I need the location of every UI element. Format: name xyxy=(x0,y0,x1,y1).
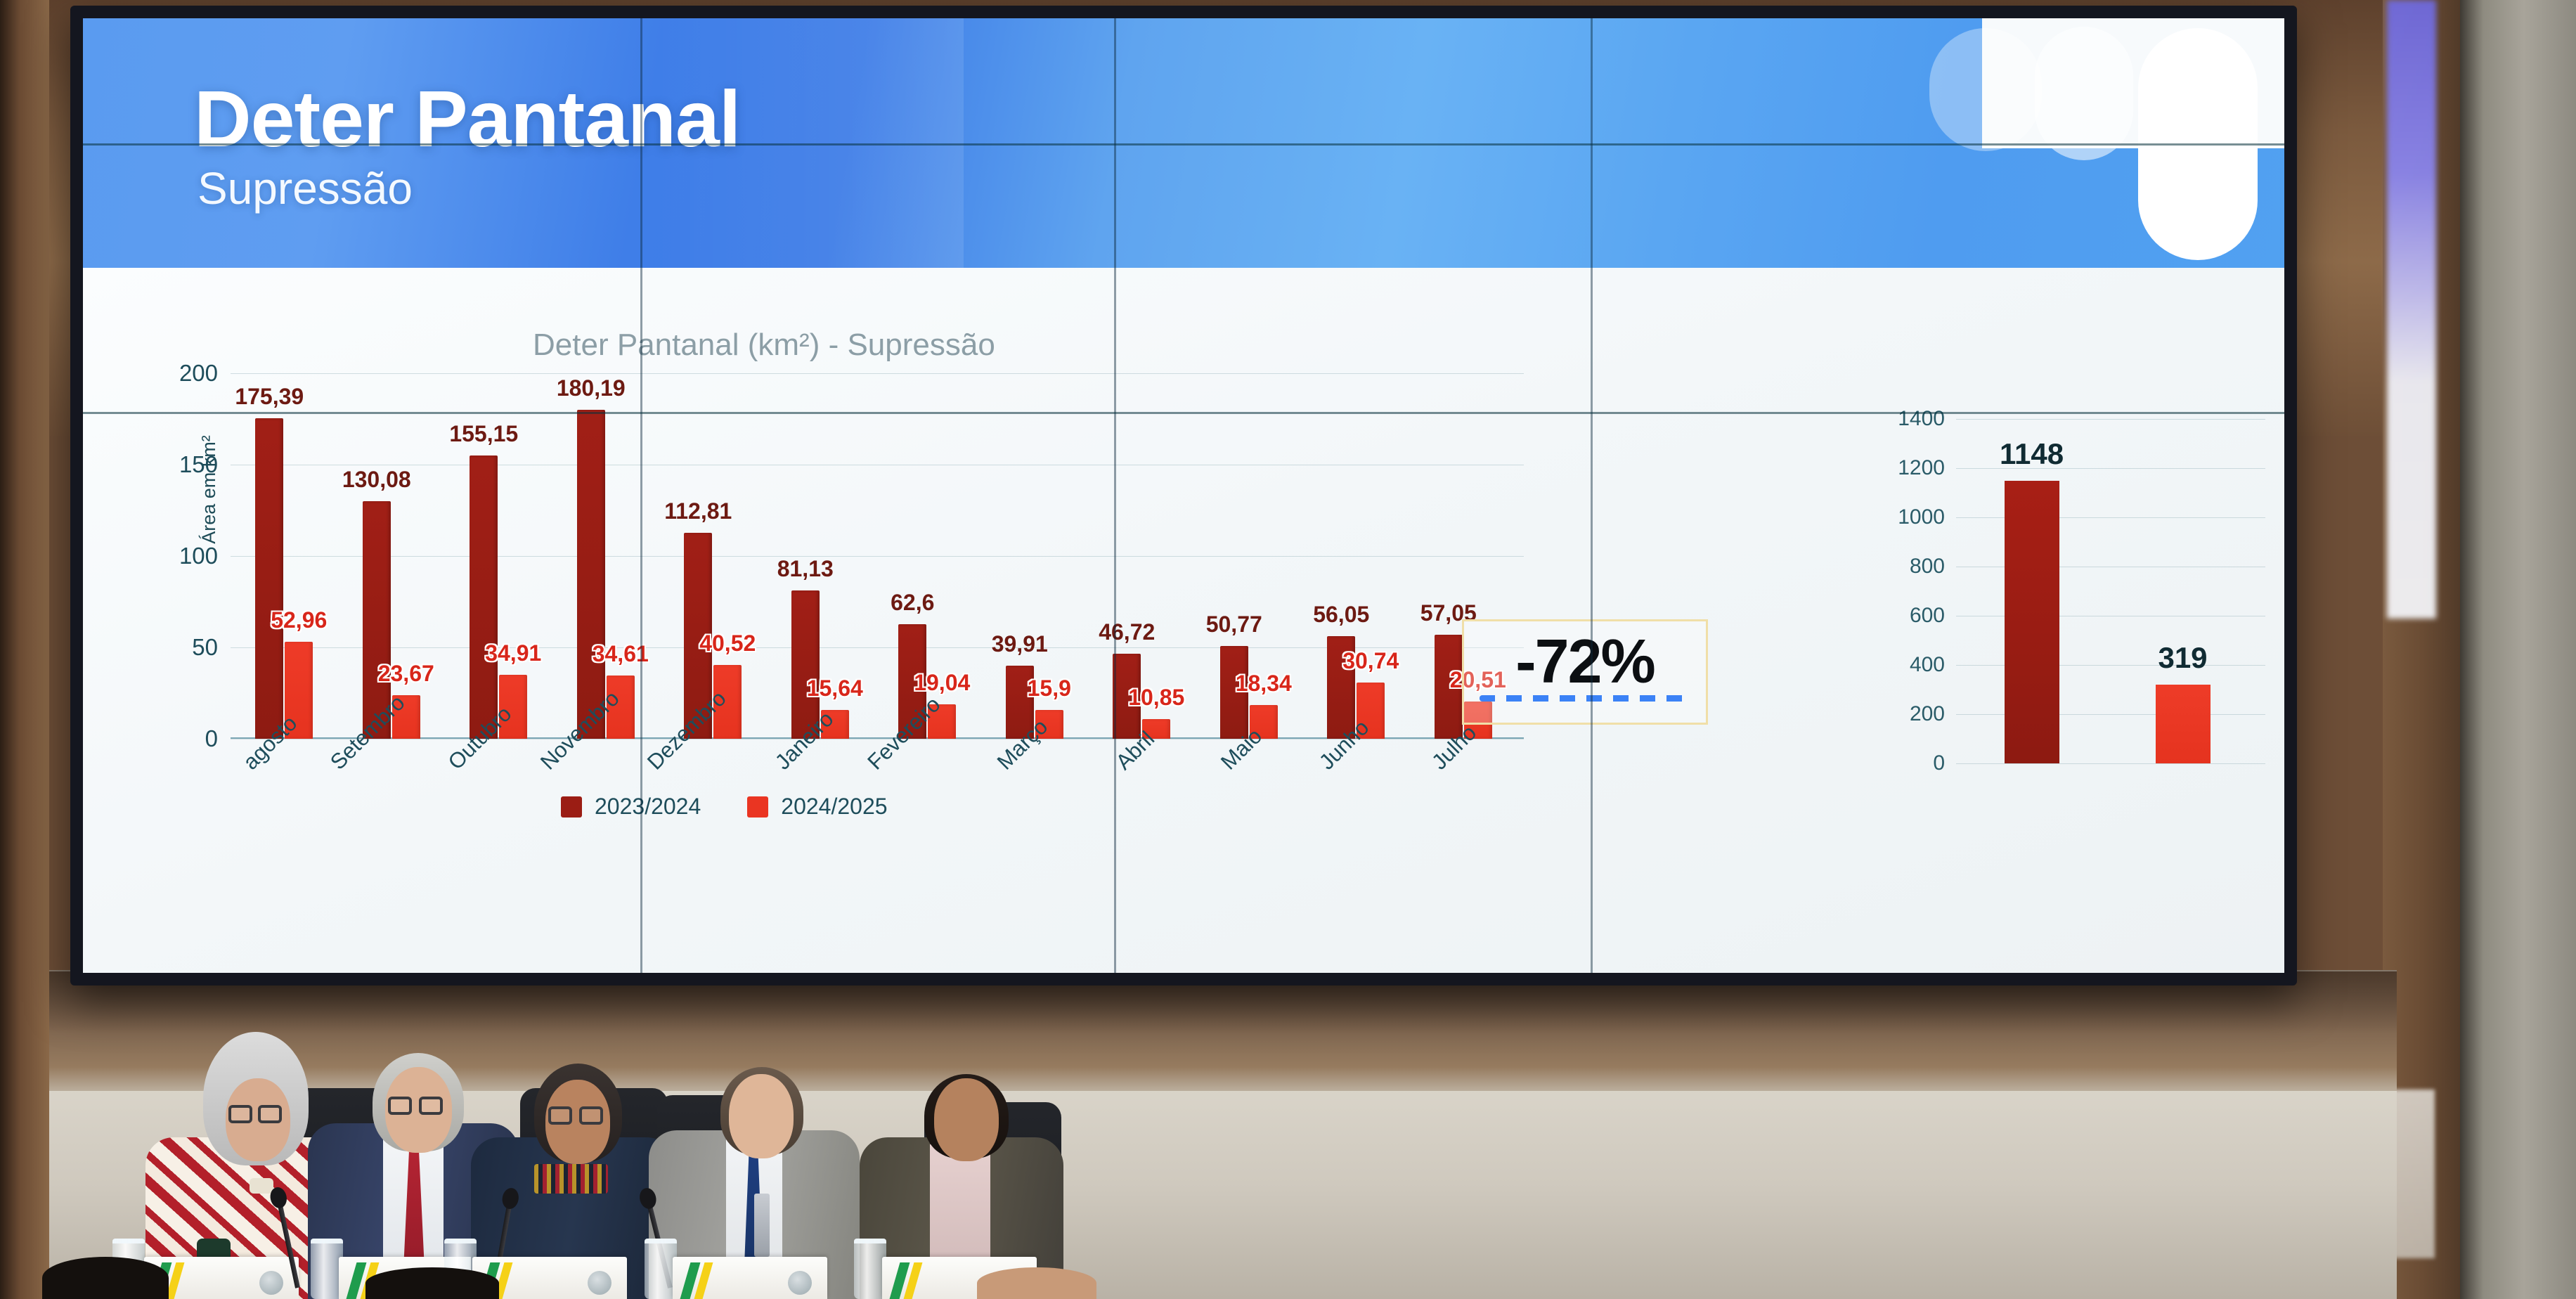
glasses-left xyxy=(388,1097,412,1115)
dashed-underline xyxy=(1480,695,1690,702)
total-bar-group: 1148 xyxy=(1956,419,2107,763)
necklace xyxy=(250,1178,273,1194)
bar-value-label: 23,67 xyxy=(378,661,434,687)
panel-seam-2 xyxy=(1114,18,1116,973)
slide-body: Deter Pantanal (km²) - Supressão Área em… xyxy=(83,268,2284,973)
audience-head-1 xyxy=(42,1257,169,1299)
slide-subtitle: Supressão xyxy=(198,162,413,214)
bar-value-label: 62,6 xyxy=(891,590,934,616)
bar-value-label: 56,05 xyxy=(1313,602,1369,628)
bar-value-label: 15,9 xyxy=(1028,676,1071,702)
legend-item: 2024/2025 xyxy=(747,794,887,820)
total-bar-2024-2025: 319 xyxy=(2156,685,2211,763)
nameplate-4 xyxy=(673,1257,827,1299)
bar-value-label: 52,96 xyxy=(271,607,327,633)
bar-value-label: 81,13 xyxy=(777,556,834,582)
bar-value-label: 10,85 xyxy=(1128,685,1184,711)
coat-of-arms-icon xyxy=(588,1271,611,1295)
audience-head-2 xyxy=(365,1267,499,1299)
bar-group: 81,1315,64Janeiro xyxy=(767,373,874,739)
bar-2023-2024: 180,19 xyxy=(577,410,605,739)
bar-group: 39,9115,9Março xyxy=(981,373,1089,739)
y-axis-tick-total: 400 xyxy=(1910,653,1956,677)
y-axis-tick: 150 xyxy=(179,451,231,478)
bar-2023-2024: 175,39 xyxy=(255,418,283,739)
head xyxy=(934,1078,999,1161)
y-axis-tick: 50 xyxy=(192,634,231,661)
legend-swatch xyxy=(747,796,768,817)
bar-value-label: 46,72 xyxy=(1099,619,1155,645)
gridline xyxy=(231,739,1524,739)
y-axis-tick-total: 1400 xyxy=(1898,407,1956,431)
decor-pill-2 xyxy=(2035,27,2133,160)
total-bars: 1148319 xyxy=(1956,419,2258,763)
bar-group: 155,1534,91Outubro xyxy=(445,373,552,739)
y-axis-tick-total: 600 xyxy=(1910,604,1956,628)
chart-legend: 2023/20242024/2025 xyxy=(561,794,888,820)
legend-item: 2023/2024 xyxy=(561,794,701,820)
panel-seam-h2 xyxy=(83,412,2284,414)
gridline-total xyxy=(1956,763,2265,764)
bar-value-label: 50,77 xyxy=(1206,612,1262,638)
bar-value-label: 112,81 xyxy=(664,498,732,524)
badge-lanyard xyxy=(754,1194,770,1257)
head xyxy=(729,1074,794,1158)
bar-value-label: 34,91 xyxy=(485,640,541,666)
chart-title: Deter Pantanal (km²) - Supressão xyxy=(533,328,995,363)
bar-group: 175,3952,96agosto xyxy=(231,373,338,739)
bar-value-label: 15,64 xyxy=(807,676,863,702)
bar-value-label: 130,08 xyxy=(342,467,411,493)
glasses-left xyxy=(228,1105,252,1123)
y-axis-tick-total: 200 xyxy=(1910,702,1956,726)
bar-value-label: 175,39 xyxy=(235,384,304,410)
y-axis-tick-total: 800 xyxy=(1910,555,1956,579)
bar-value-label: 19,04 xyxy=(914,670,970,696)
total-value-label: 1148 xyxy=(2000,437,2064,471)
y-axis-tick: 200 xyxy=(179,360,231,387)
glasses-right xyxy=(579,1106,603,1125)
panel-seam-h1 xyxy=(83,143,2284,146)
collar-trim xyxy=(534,1164,608,1194)
coat-of-arms-icon xyxy=(259,1271,283,1295)
glasses-left xyxy=(548,1106,572,1125)
season-total-bar-chart: 0200400600800100012001400 1148319 xyxy=(1956,419,2258,763)
monthly-suppression-bar-chart: Área em km² 050100150200 175,3952,96agos… xyxy=(231,373,1517,739)
bar-value-label: 18,34 xyxy=(1236,671,1292,697)
bar-group: 180,1934,61Novembro xyxy=(552,373,660,739)
panel-speakers-row xyxy=(0,981,2576,1299)
auxiliary-display xyxy=(2387,0,2436,619)
y-axis-tick: 100 xyxy=(179,543,231,569)
bar-group: 112,8140,52Dezembro xyxy=(659,373,767,739)
panel-seam-3 xyxy=(1591,18,1593,973)
glasses-right xyxy=(258,1105,282,1123)
bar-value-label: 155,15 xyxy=(449,421,518,447)
bar-2023-2024: 155,15 xyxy=(470,455,498,739)
bar-group: 46,7210,85Abril xyxy=(1088,373,1196,739)
total-bar-2023-2024: 1148 xyxy=(2005,481,2059,763)
percent-change-value: -72% xyxy=(1464,626,1706,697)
total-value-label: 319 xyxy=(2158,641,2207,675)
percent-change-callout: -72% xyxy=(1462,619,1708,725)
y-axis-tick-total: 1000 xyxy=(1898,505,1956,529)
decor-pill-3 xyxy=(1929,28,2042,151)
bar-group: 50,7718,34Maio xyxy=(1196,373,1303,739)
y-axis-tick: 0 xyxy=(205,725,231,752)
legend-label: 2024/2025 xyxy=(781,794,887,820)
legend-swatch xyxy=(561,796,582,817)
bar-group: 130,0823,67Setembro xyxy=(338,373,446,739)
bar-value-label: 39,91 xyxy=(992,631,1048,657)
glasses-right xyxy=(419,1097,443,1115)
slide-title: Deter Pantanal xyxy=(194,73,740,164)
y-axis-tick-total: 0 xyxy=(1933,751,1956,775)
coat-of-arms-icon xyxy=(788,1271,812,1295)
video-wall: Deter Pantanal Supressão Deter Pantanal … xyxy=(70,6,2297,985)
legend-label: 2023/2024 xyxy=(595,794,701,820)
bar-value-label: 180,19 xyxy=(557,375,626,401)
y-axis-tick-total: 1200 xyxy=(1898,456,1956,480)
audience-head-3 xyxy=(977,1267,1096,1299)
bar-group: 56,0530,74Junho xyxy=(1302,373,1410,739)
panel-seam-1 xyxy=(640,18,642,973)
bar-groups: 175,3952,96agosto130,0823,67Setembro155,… xyxy=(231,373,1517,739)
presentation-screen: Deter Pantanal Supressão Deter Pantanal … xyxy=(83,18,2284,973)
total-bar-group: 319 xyxy=(2107,419,2258,763)
bar-value-label: 30,74 xyxy=(1342,648,1399,674)
bar-value-label: 40,52 xyxy=(699,631,756,657)
bar-group: 62,619,04Fevereiro xyxy=(874,373,981,739)
